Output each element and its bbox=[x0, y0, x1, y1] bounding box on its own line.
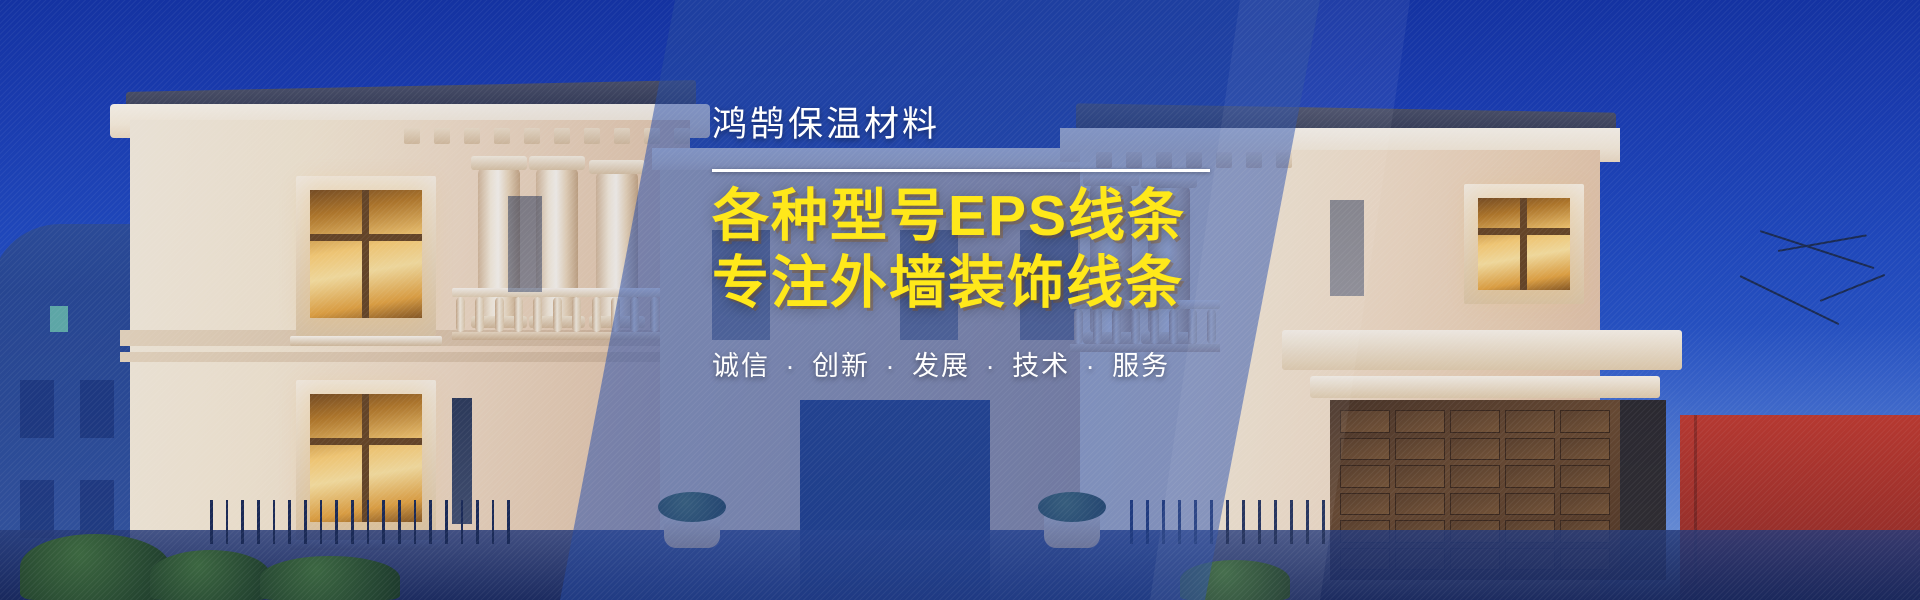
divider-rule bbox=[712, 169, 1210, 172]
tagline-separator: · bbox=[1080, 351, 1103, 381]
tagline-item-0: 诚信 bbox=[712, 351, 770, 381]
headline-line-1: 各种型号EPS线条 bbox=[712, 186, 1332, 247]
tagline-item-4: 服务 bbox=[1112, 351, 1170, 381]
banner-copy: 鸿鹄保温材料 各种型号EPS线条 专注外墙装饰线条 诚信 · 创新 · 发展 ·… bbox=[712, 96, 1332, 383]
tagline-separator: · bbox=[880, 351, 903, 381]
headline-line-2: 专注外墙装饰线条 bbox=[712, 253, 1332, 314]
tagline-item-3: 技术 bbox=[1012, 351, 1070, 381]
promo-banner: 鸿鹄保温材料 各种型号EPS线条 专注外墙装饰线条 诚信 · 创新 · 发展 ·… bbox=[0, 0, 1920, 600]
tagline-item-1: 创新 bbox=[812, 351, 870, 381]
tagline-item-2: 发展 bbox=[912, 351, 970, 381]
tagline: 诚信 · 创新 · 发展 · 技术 · 服务 bbox=[712, 344, 1332, 383]
tagline-separator: · bbox=[780, 351, 803, 381]
tagline-separator: · bbox=[980, 351, 1003, 381]
brand-name: 鸿鹄保温材料 bbox=[712, 96, 1332, 147]
